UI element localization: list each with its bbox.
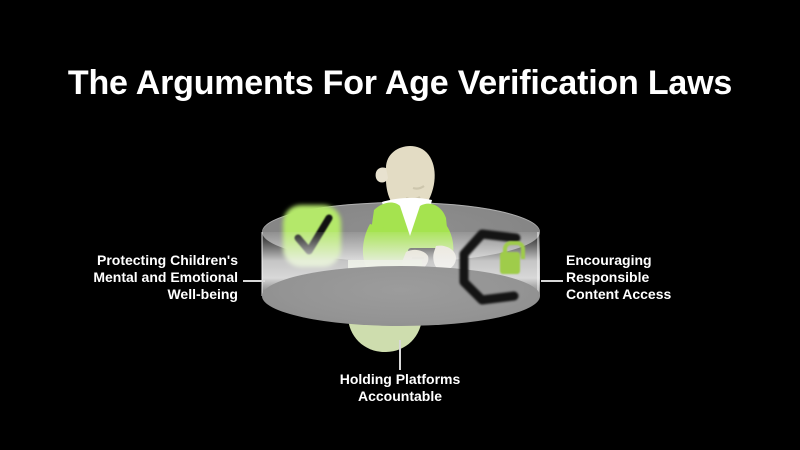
- label-line: Well-being: [0, 286, 238, 303]
- label-line: Holding Platforms: [0, 371, 800, 388]
- holding-platforms-accountable-label: Holding Platforms Accountable: [0, 371, 800, 405]
- label-line: Encouraging: [566, 252, 786, 269]
- label-line: Content Access: [566, 286, 786, 303]
- bottom-connector-line: [399, 340, 401, 370]
- cylinder-left-rim: [261, 232, 263, 296]
- label-line: Responsible: [566, 269, 786, 286]
- hair-shape: [376, 167, 388, 182]
- page-title: The Arguments For Age Verification Laws: [0, 64, 800, 103]
- left-connector-line: [243, 280, 265, 282]
- encouraging-responsible-access-label: Encouraging Responsible Content Access: [566, 252, 786, 303]
- illustration-stage: [250, 140, 550, 355]
- protecting-children-label: Protecting Children's Mental and Emotion…: [0, 252, 238, 303]
- right-connector-line: [541, 280, 563, 282]
- lock-body-icon: [500, 252, 520, 274]
- label-line: Accountable: [0, 388, 800, 405]
- slide-canvas: The Arguments For Age Verification Laws: [0, 0, 800, 450]
- label-line: Protecting Children's: [0, 252, 238, 269]
- cylinder-right-rim: [537, 232, 539, 296]
- label-line: Mental and Emotional: [0, 269, 238, 286]
